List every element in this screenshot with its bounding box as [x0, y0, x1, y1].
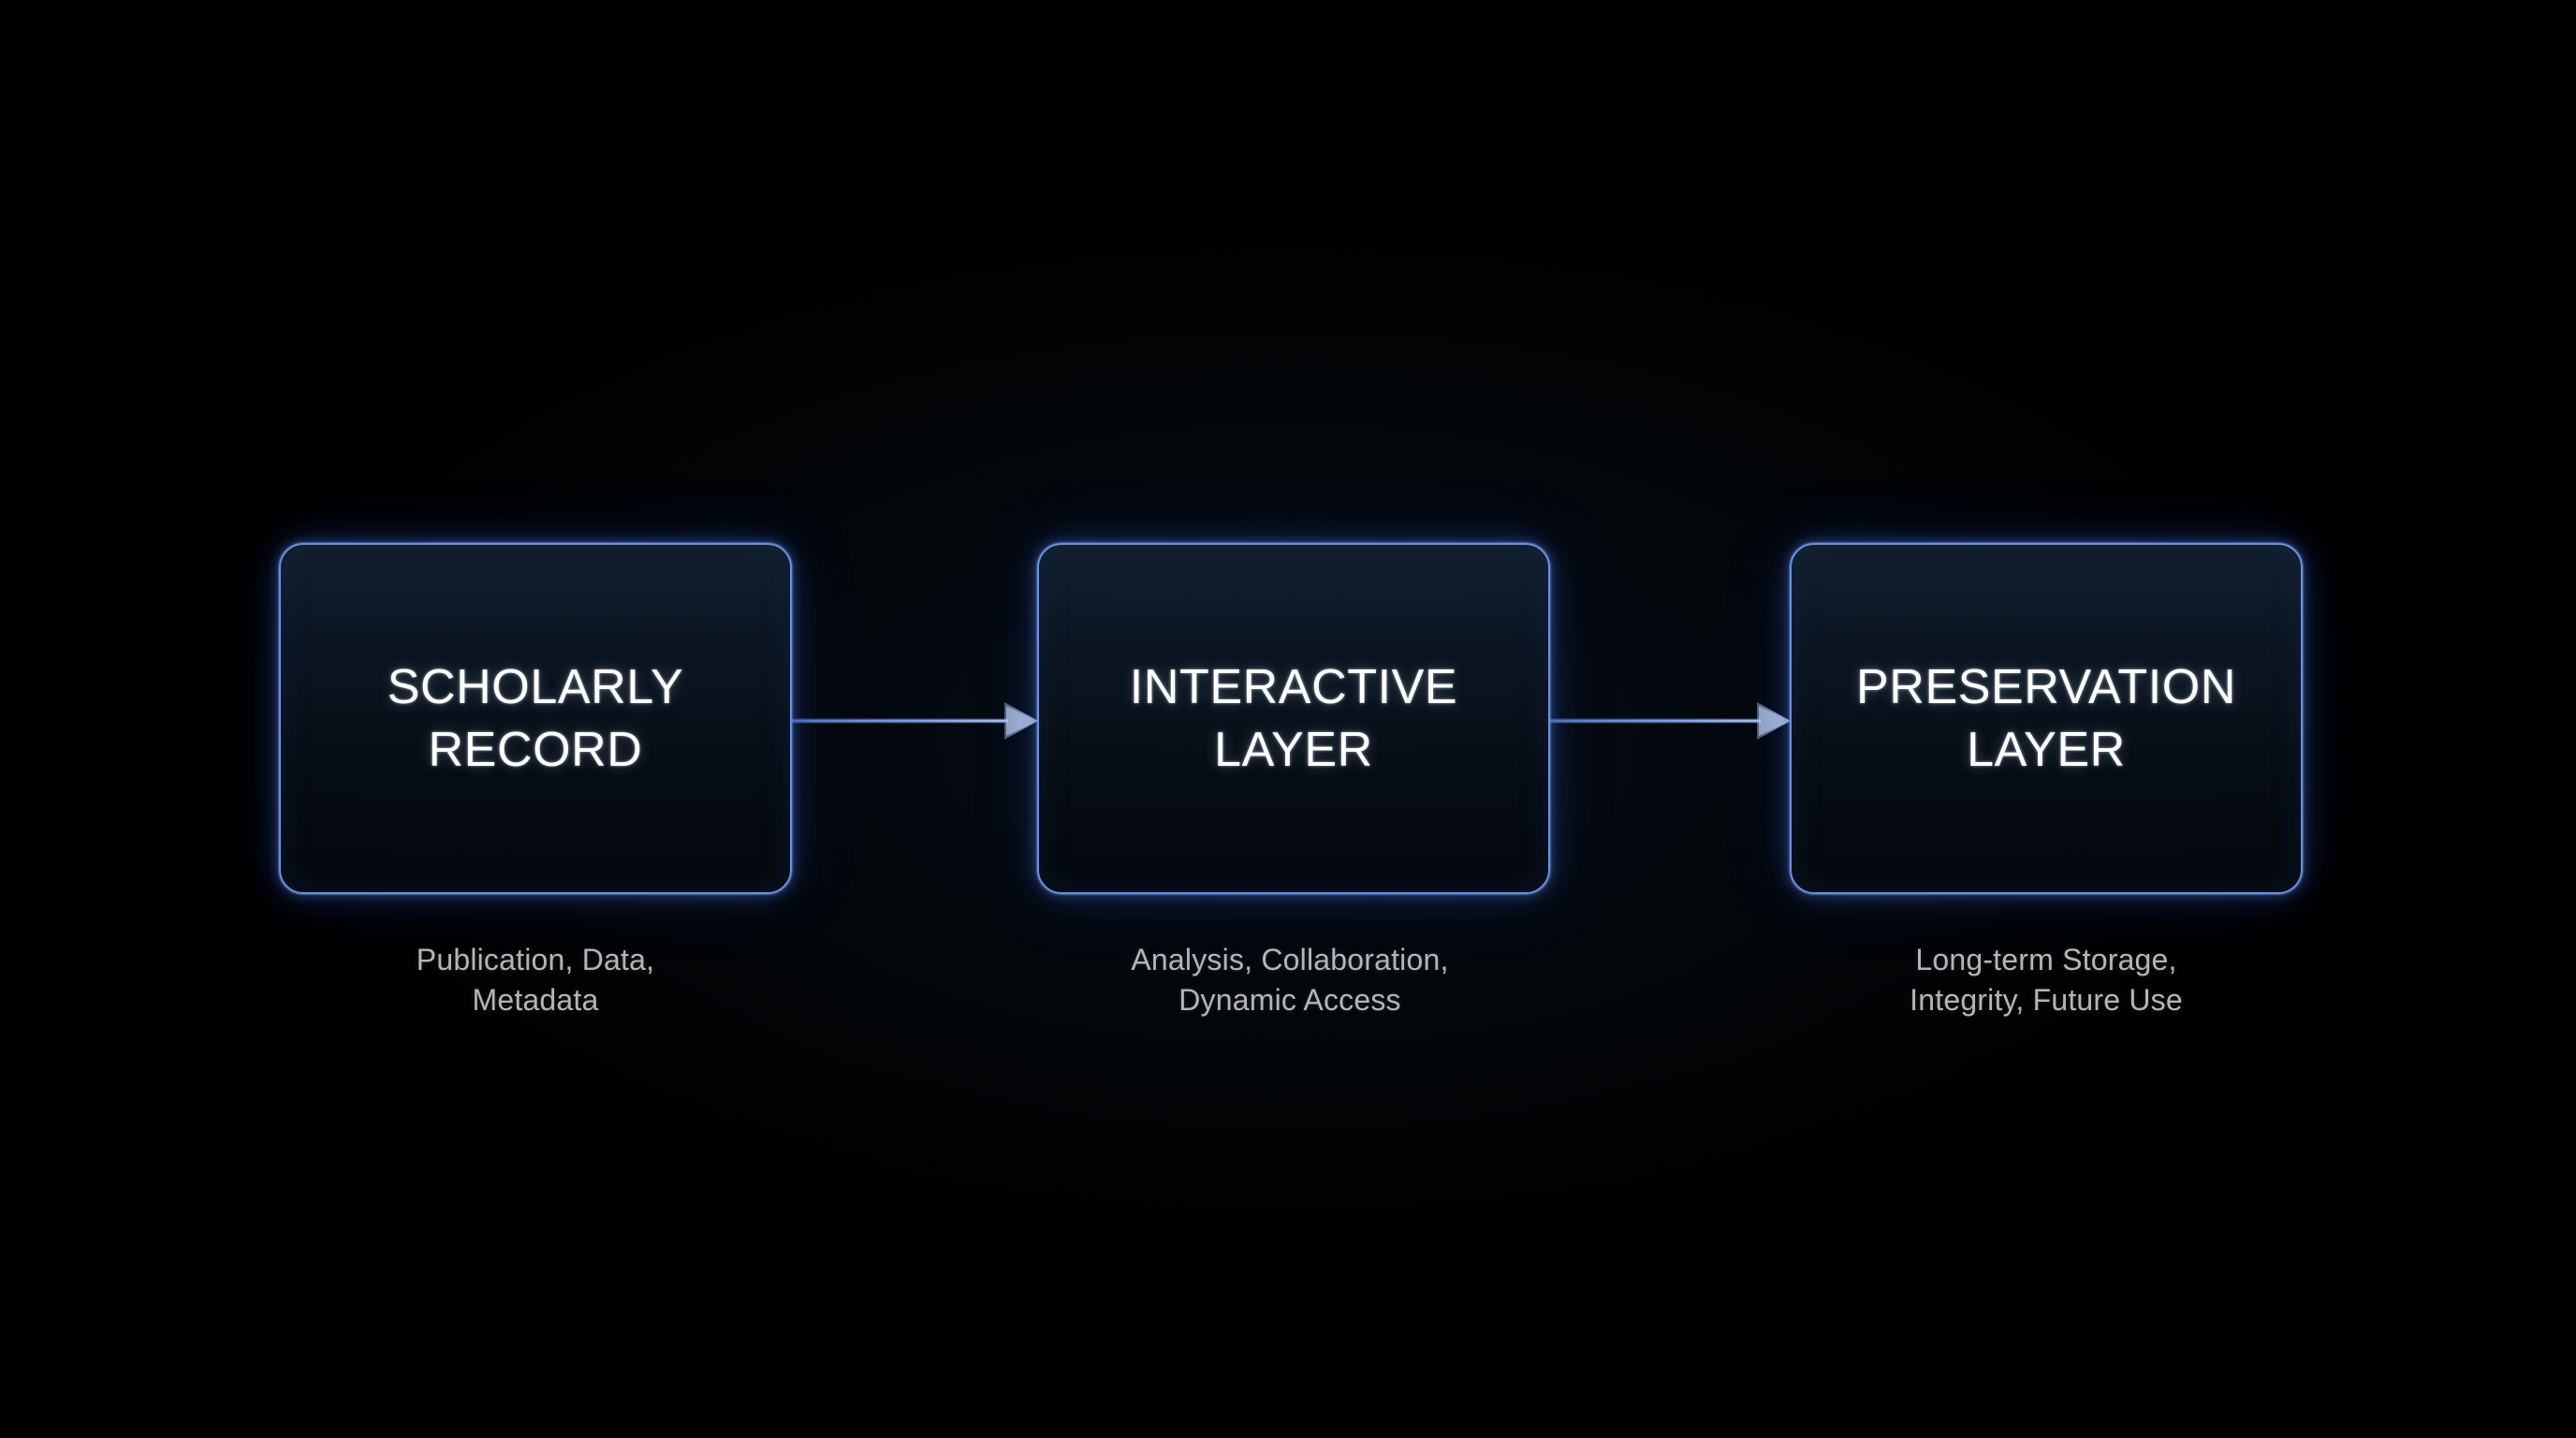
diagram-canvas: SCHOLARLY RECORD Publication, Data, Meta…: [0, 0, 2576, 1438]
node-caption-interactive-layer: Analysis, Collaboration, Dynamic Access: [1000, 940, 1580, 1020]
arrow-shaft: [1543, 718, 1761, 724]
node-preservation-layer[interactable]: PRESERVATION LAYER: [1790, 543, 2303, 894]
flow-diagram: SCHOLARLY RECORD Publication, Data, Meta…: [0, 0, 2576, 1438]
node-interactive-layer[interactable]: INTERACTIVE LAYER: [1037, 543, 1550, 894]
connector-arrow-1: [791, 700, 1039, 741]
node-caption-scholarly-record: Publication, Data, Metadata: [245, 940, 826, 1020]
node-title: INTERACTIVE LAYER: [1113, 656, 1474, 780]
node-title: SCHOLARLY RECORD: [371, 656, 701, 780]
arrow-head: [1004, 702, 1038, 740]
node-caption-preservation-layer: Long-term Storage, Integrity, Future Use: [1756, 940, 2336, 1020]
arrow-shaft: [791, 718, 1008, 724]
arrow-head: [1757, 702, 1791, 740]
node-title: PRESERVATION LAYER: [1839, 656, 2253, 780]
node-scholarly-record[interactable]: SCHOLARLY RECORD: [279, 543, 792, 894]
connector-arrow-2: [1543, 700, 1792, 741]
